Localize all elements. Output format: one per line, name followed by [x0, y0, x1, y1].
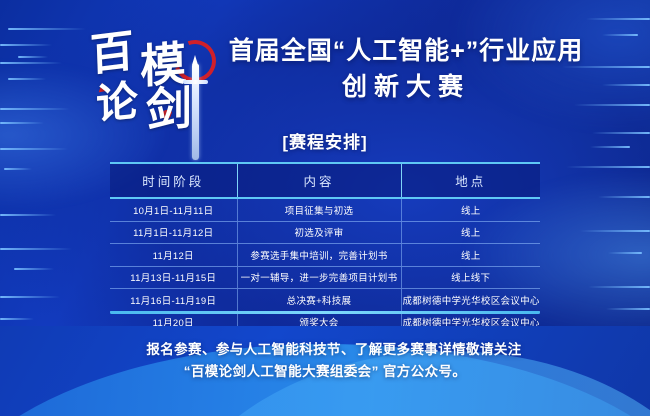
streak-line	[0, 248, 72, 250]
column-header-content: 内容	[237, 163, 401, 198]
table-bottom-rule	[110, 311, 540, 314]
cell-time: 11月1日-11月12日	[110, 221, 237, 244]
streak-line	[598, 196, 650, 198]
main-title-line-1: 首届全国“人工智能+”行业应用	[196, 34, 616, 70]
table-row: 11月12日 参赛选手集中培训，完善计划书 线上	[110, 244, 540, 267]
logo-char-4: 剑	[146, 84, 192, 133]
streak-line	[566, 166, 650, 168]
cell-content: 一对一辅导，进一步完善项目计划书	[237, 266, 401, 289]
streak-line	[580, 230, 650, 232]
cell-location: 线上	[401, 198, 540, 221]
cell-location: 线上	[401, 221, 540, 244]
footer-text: 报名参赛、参与人工智能科技节、了解更多赛事详情敬请关注 “百模论剑人工智能大赛组…	[0, 326, 650, 383]
cell-location: 成都树德中学光华校区会议中心	[401, 289, 540, 312]
cell-location: 线上线下	[401, 266, 540, 289]
cell-content: 项目征集与初选	[237, 198, 401, 221]
streak-line	[8, 28, 86, 30]
table-row: 11月1日-11月12日 初选及评审 线上	[110, 221, 540, 244]
table-row: 10月1日-11月11日 项目征集与初选 线上	[110, 198, 540, 221]
streak-line	[8, 78, 46, 80]
streak-line	[586, 18, 650, 20]
main-title-line-2: 创新大赛	[196, 70, 616, 106]
streak-line	[0, 296, 60, 298]
logo-char-3: 论	[96, 80, 139, 127]
main-title: 首届全国“人工智能+”行业应用 创新大赛	[196, 34, 616, 105]
streak-line	[0, 318, 34, 320]
cell-time: 11月16日-11月19日	[110, 289, 237, 312]
poster-canvas: 百 模 论 剑 首届全国“人工智能+”行业应用 创新大赛 [赛程安排] 时间阶段…	[0, 0, 650, 416]
cell-content: 总决赛+科技展	[237, 289, 401, 312]
column-header-time: 时间阶段	[110, 163, 237, 198]
logo-char-1: 百	[89, 29, 134, 79]
cell-time: 11月12日	[110, 244, 237, 267]
streak-line	[4, 168, 32, 170]
table-header-row: 时间阶段 内容 地点	[110, 163, 540, 198]
cell-content: 参赛选手集中培训，完善计划书	[237, 244, 401, 267]
streak-line	[608, 252, 642, 254]
streak-line	[588, 286, 650, 288]
schedule-table: 时间阶段 内容 地点 10月1日-11月11日 项目征集与初选 线上 11月1日…	[110, 162, 540, 333]
footer-banner: 报名参赛、参与人工智能科技节、了解更多赛事详情敬请关注 “百模论剑人工智能大赛组…	[0, 326, 650, 416]
streak-line	[0, 62, 62, 64]
cell-time: 11月13日-11月15日	[110, 266, 237, 289]
column-header-location: 地点	[401, 163, 540, 198]
streak-line	[0, 108, 70, 110]
section-title: [赛程安排]	[0, 128, 650, 153]
streak-line	[606, 308, 650, 310]
footer-line-2: “百模论剑人工智能大赛组委会” 官方公众号。	[0, 361, 650, 383]
streak-line	[0, 122, 44, 124]
table-row: 11月13日-11月15日 一对一辅导，进一步完善项目计划书 线上线下	[110, 266, 540, 289]
streak-line	[18, 56, 48, 58]
streak-line	[0, 44, 52, 46]
table-row: 11月16日-11月19日 总决赛+科技展 成都树德中学光华校区会议中心	[110, 289, 540, 312]
cell-location: 线上	[401, 244, 540, 267]
streak-line	[14, 268, 54, 270]
streak-line	[0, 214, 56, 216]
footer-line-1: 报名参赛、参与人工智能科技节、了解更多赛事详情敬请关注	[0, 339, 650, 361]
cell-content: 初选及评审	[237, 221, 401, 244]
cell-time: 10月1日-11月11日	[110, 198, 237, 221]
